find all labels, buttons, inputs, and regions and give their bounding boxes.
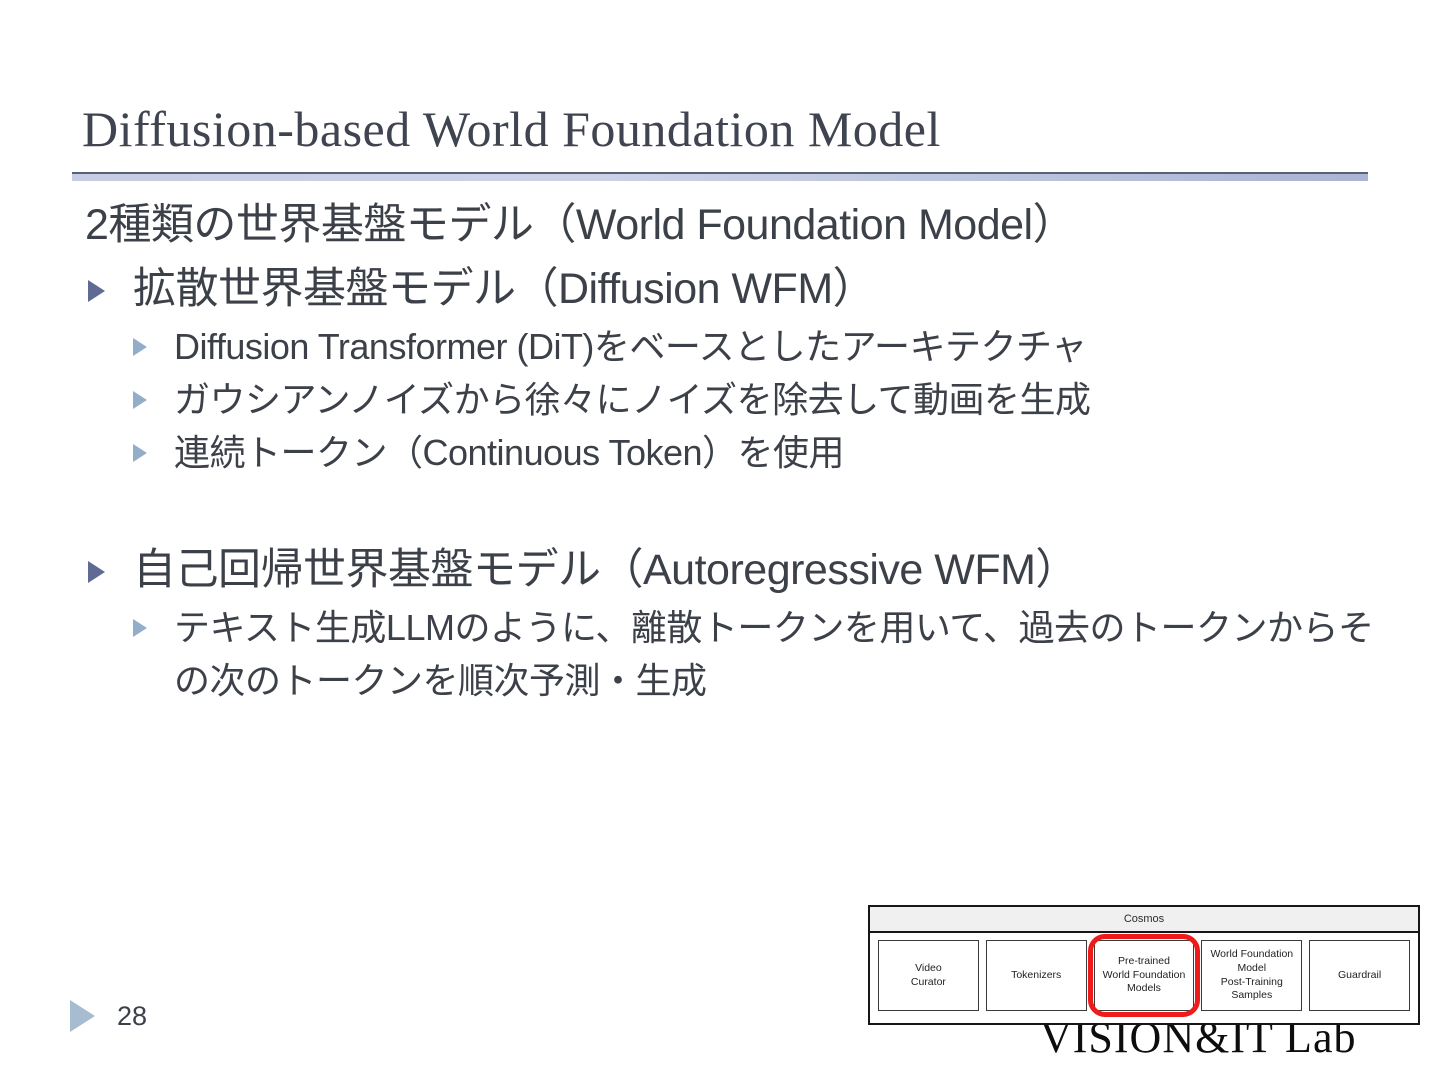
cosmos-diagram: Cosmos VideoCurator Tokenizers Pre-train… bbox=[868, 905, 1420, 1025]
slide-number-text: 28 bbox=[117, 1001, 147, 1032]
list-item-text: ガウシアンノイズから徐々にノイズを除去して動画を生成 bbox=[174, 373, 1091, 426]
list-item: ガウシアンノイズから徐々にノイズを除去して動画を生成 bbox=[0, 373, 1440, 426]
triangle-bullet-icon bbox=[88, 280, 105, 302]
cosmos-diagram-boxes: VideoCurator Tokenizers Pre-trainedWorld… bbox=[870, 933, 1418, 1019]
section-spacer bbox=[0, 479, 1440, 541]
title-divider-band bbox=[72, 174, 1368, 181]
diagram-box-pretrained-wfm: Pre-trainedWorld FoundationModels bbox=[1094, 940, 1195, 1011]
section-heading-autoregressive: 自己回帰世界基盤モデル（Autoregressive WFM） bbox=[0, 541, 1440, 599]
title-divider bbox=[72, 172, 1368, 181]
triangle-bullet-icon bbox=[133, 391, 147, 409]
list-item-text: テキスト生成LLMのように、離散トークンを用いて、過去のトークンからその次のトー… bbox=[174, 601, 1384, 707]
diagram-box-tokenizers: Tokenizers bbox=[986, 940, 1087, 1011]
triangle-bullet-icon bbox=[133, 338, 147, 356]
diagram-box-label: Guardrail bbox=[1338, 969, 1381, 983]
list-item: 連続トークン（Continuous Token）を使用 bbox=[0, 426, 1440, 479]
section-heading-diffusion: 拡散世界基盤モデル（Diffusion WFM） bbox=[0, 260, 1440, 318]
body-heading-text: 2種類の世界基盤モデル（World Foundation Model） bbox=[85, 196, 1075, 254]
diagram-box-post-training-samples: World FoundationModelPost-TrainingSample… bbox=[1201, 940, 1302, 1011]
slide-body: 2種類の世界基盤モデル（World Foundation Model） 拡散世界… bbox=[0, 196, 1440, 707]
section-heading-text: 拡散世界基盤モデル（Diffusion WFM） bbox=[133, 260, 875, 318]
list-item: Diffusion Transformer (DiT)をベースとしたアーキテクチ… bbox=[0, 320, 1440, 373]
list-item: テキスト生成LLMのように、離散トークンを用いて、過去のトークンからその次のトー… bbox=[0, 601, 1440, 707]
triangle-bullet-icon bbox=[88, 561, 105, 583]
diagram-box-label: World FoundationModelPost-TrainingSample… bbox=[1210, 948, 1293, 1003]
diagram-box-guardrail: Guardrail bbox=[1309, 940, 1410, 1011]
section-heading-text: 自己回帰世界基盤モデル（Autoregressive WFM） bbox=[133, 541, 1078, 599]
cosmos-diagram-header: Cosmos bbox=[870, 907, 1418, 933]
diagram-box-label: VideoCurator bbox=[911, 962, 946, 990]
triangle-marker-icon bbox=[70, 1000, 95, 1032]
page-title: Diffusion-based World Foundation Model bbox=[82, 103, 1382, 156]
diagram-box-label: Tokenizers bbox=[1011, 969, 1061, 983]
slide-number: 28 bbox=[70, 1000, 147, 1032]
list-item-text: 連続トークン（Continuous Token）を使用 bbox=[174, 426, 844, 479]
triangle-bullet-icon bbox=[133, 619, 147, 637]
triangle-bullet-icon bbox=[133, 444, 147, 462]
diagram-box-video-curator: VideoCurator bbox=[878, 940, 979, 1011]
list-item-text: Diffusion Transformer (DiT)をベースとしたアーキテクチ… bbox=[174, 320, 1087, 373]
diagram-box-label: Pre-trainedWorld FoundationModels bbox=[1103, 955, 1186, 997]
body-heading: 2種類の世界基盤モデル（World Foundation Model） bbox=[0, 196, 1440, 254]
